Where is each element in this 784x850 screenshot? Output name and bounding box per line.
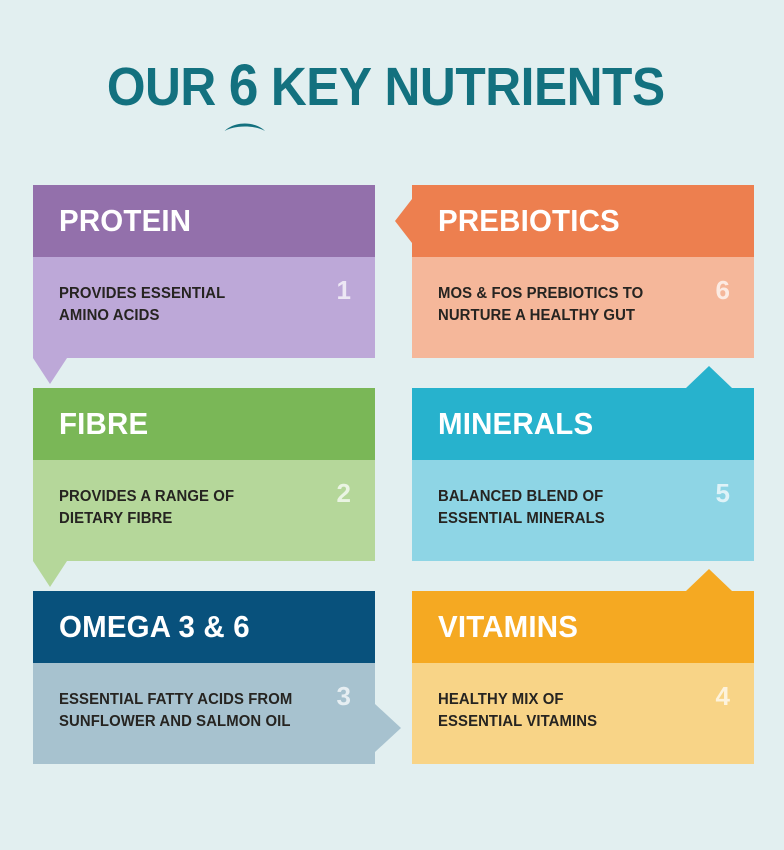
card-header-vitamins: VITAMINS: [412, 591, 754, 663]
card-number-omega: 3: [337, 683, 351, 709]
nutrient-card-minerals[interactable]: MINERALS BALANCED BLEND OF ESSENTIAL MIN…: [412, 388, 754, 561]
nutrient-card-protein[interactable]: PROTEIN PROVIDES ESSENTIAL AMINO ACIDS 1: [33, 185, 375, 358]
card-header-fibre: FIBRE: [33, 388, 375, 460]
nutrient-card-vitamins[interactable]: VITAMINS HEALTHY MIX OF ESSENTIAL VITAMI…: [412, 591, 754, 764]
card-title-minerals: MINERALS: [438, 406, 593, 442]
title-number: 6: [229, 53, 258, 118]
card-number-protein: 1: [337, 277, 351, 303]
card-description-omega: ESSENTIAL FATTY ACIDS FROM SUNFLOWER AND…: [59, 689, 299, 733]
title-word-our: OUR: [107, 56, 229, 118]
nutrient-card-fibre[interactable]: FIBRE PROVIDES A RANGE OF DIETARY FIBRE …: [33, 388, 375, 561]
card-body-omega: ESSENTIAL FATTY ACIDS FROM SUNFLOWER AND…: [33, 663, 375, 764]
page-title: OUR 6 KEY NUTRIENTS: [107, 52, 678, 119]
card-title-fibre: FIBRE: [59, 406, 148, 442]
nutrient-cards-grid: PROTEIN PROVIDES ESSENTIAL AMINO ACIDS 1…: [33, 185, 755, 775]
nutrient-card-prebiotics[interactable]: PREBIOTICS MOS & FOS PREBIOTICS TO NURTU…: [412, 185, 754, 358]
card-number-minerals: 5: [716, 480, 730, 506]
card-body-protein: PROVIDES ESSENTIAL AMINO ACIDS 1: [33, 257, 375, 358]
card-header-protein: PROTEIN: [33, 185, 375, 257]
card-body-prebiotics: MOS & FOS PREBIOTICS TO NURTURE A HEALTH…: [412, 257, 754, 358]
arrow-down-icon: [33, 561, 67, 587]
card-body-fibre: PROVIDES A RANGE OF DIETARY FIBRE 2: [33, 460, 375, 561]
title-word-nutrients: NUTRIENTS: [384, 56, 677, 118]
card-title-vitamins: VITAMINS: [438, 609, 578, 645]
title-word-key: KEY: [271, 56, 385, 118]
underline-swoosh-icon: [223, 119, 265, 133]
card-body-vitamins: HEALTHY MIX OF ESSENTIAL VITAMINS 4: [412, 663, 754, 764]
card-number-vitamins: 4: [716, 683, 730, 709]
card-title-omega: OMEGA 3 & 6: [59, 609, 250, 645]
card-description-prebiotics: MOS & FOS PREBIOTICS TO NURTURE A HEALTH…: [438, 283, 678, 327]
nutrient-card-omega-3-and-6[interactable]: OMEGA 3 & 6 ESSENTIAL FATTY ACIDS FROM S…: [33, 591, 375, 764]
card-description-protein: PROVIDES ESSENTIAL AMINO ACIDS: [59, 283, 299, 327]
card-title-prebiotics: PREBIOTICS: [438, 203, 620, 239]
card-number-prebiotics: 6: [716, 277, 730, 303]
card-description-vitamins: HEALTHY MIX OF ESSENTIAL VITAMINS: [438, 689, 678, 733]
arrow-up-icon: [686, 569, 732, 591]
title-number-wrap: 6: [229, 52, 271, 119]
card-header-omega: OMEGA 3 & 6: [33, 591, 375, 663]
page-title-block: OUR 6 KEY NUTRIENTS: [0, 0, 784, 170]
card-description-minerals: BALANCED BLEND OF ESSENTIAL MINERALS: [438, 486, 678, 530]
card-header-minerals: MINERALS: [412, 388, 754, 460]
arrow-right-icon: [375, 704, 401, 752]
card-number-fibre: 2: [337, 480, 351, 506]
card-description-fibre: PROVIDES A RANGE OF DIETARY FIBRE: [59, 486, 299, 530]
card-header-prebiotics: PREBIOTICS: [412, 185, 754, 257]
card-body-minerals: BALANCED BLEND OF ESSENTIAL MINERALS 5: [412, 460, 754, 561]
card-title-protein: PROTEIN: [59, 203, 191, 239]
arrow-down-icon: [33, 358, 67, 384]
arrow-up-icon: [686, 366, 732, 388]
arrow-left-icon: [395, 199, 412, 243]
